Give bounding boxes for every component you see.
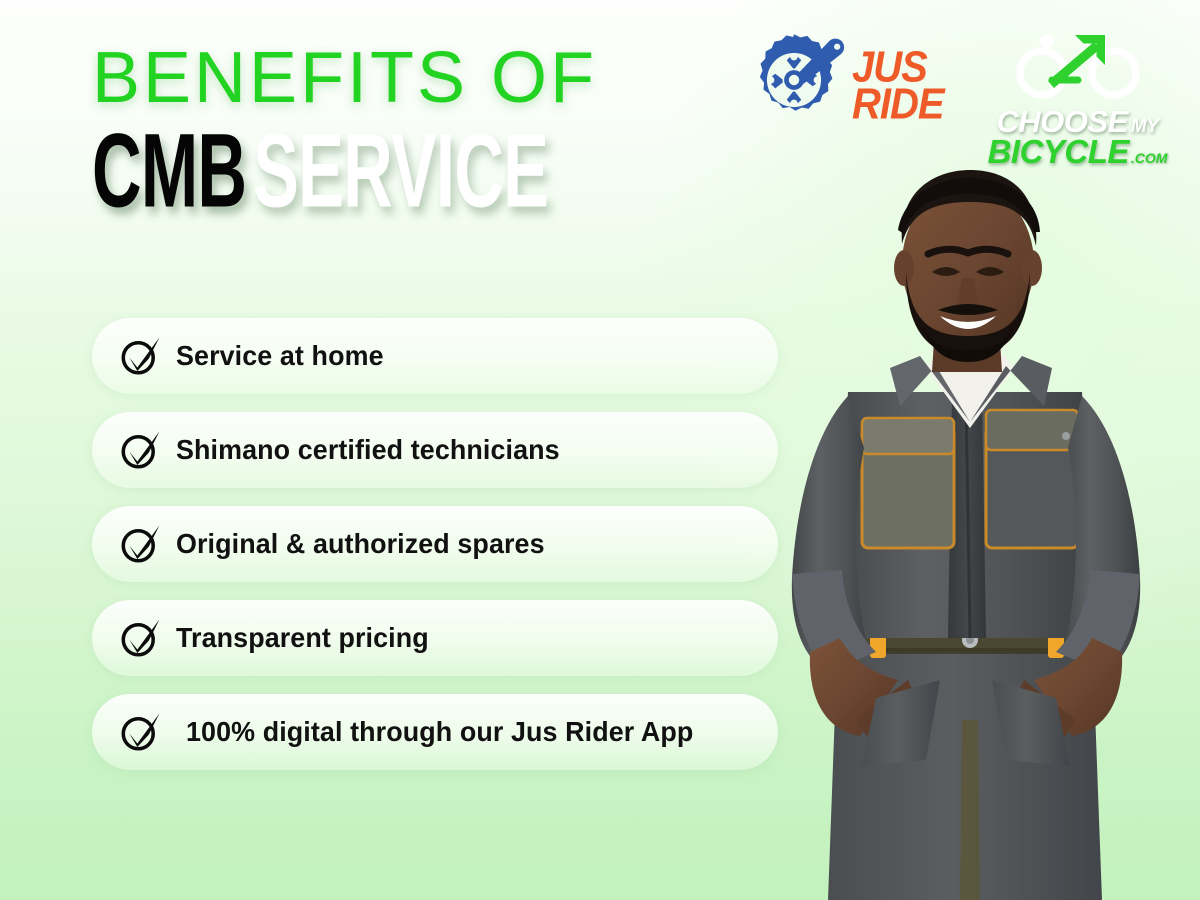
title-word-service: SERVICE bbox=[253, 119, 548, 224]
technician-photo bbox=[730, 160, 1200, 900]
cmb-wordmark-row-2: BICYCLE .COM bbox=[988, 136, 1168, 167]
benefit-label: Shimano certified technicians bbox=[176, 434, 560, 466]
check-circle-icon bbox=[118, 334, 162, 378]
check-circle-icon bbox=[118, 428, 162, 472]
benefit-label: Service at home bbox=[176, 340, 384, 372]
check-circle-icon bbox=[118, 616, 162, 660]
choosemybicycle-wordmark: CHOOSE MY BICYCLE .COM bbox=[988, 107, 1168, 168]
choosemybicycle-logo[interactable]: CHOOSE MY BICYCLE .COM bbox=[988, 28, 1168, 168]
benefits-list: Service at home Shimano certified techni… bbox=[92, 318, 778, 788]
benefit-pill[interactable]: Shimano certified technicians bbox=[92, 412, 778, 488]
benefit-pill[interactable]: Service at home bbox=[92, 318, 778, 394]
poster-canvas: BENEFITS OF CMBSERVICE bbox=[0, 0, 1200, 900]
title-line-benefits-of: BENEFITS OF bbox=[92, 42, 622, 114]
benefit-pill[interactable]: Original & authorized spares bbox=[92, 506, 778, 582]
benefit-label: Original & authorized spares bbox=[176, 528, 545, 560]
bicycle-arrow-icon bbox=[1012, 28, 1144, 105]
cmb-word-com: .COM bbox=[1131, 152, 1168, 165]
benefit-label: Transparent pricing bbox=[176, 622, 429, 654]
cmb-word-choose: CHOOSE bbox=[996, 107, 1127, 136]
benefit-pill[interactable]: 100% digital through our Jus Rider App bbox=[92, 694, 778, 770]
page-title: BENEFITS OF CMBSERVICE bbox=[92, 42, 622, 214]
cmb-wordmark-row-1: CHOOSE MY bbox=[988, 107, 1168, 136]
title-line-cmb-service: CMBSERVICE bbox=[92, 128, 622, 214]
jus-ride-word-bottom: RIDE bbox=[852, 84, 944, 124]
jus-ride-wordmark: JUS RIDE bbox=[852, 49, 944, 123]
benefit-label: 100% digital through our Jus Rider App bbox=[186, 716, 693, 748]
cmb-word-bicycle: BICYCLE bbox=[988, 136, 1129, 167]
title-word-cmb: CMB bbox=[92, 119, 246, 224]
benefit-pill[interactable]: Transparent pricing bbox=[92, 600, 778, 676]
check-circle-icon bbox=[118, 710, 162, 754]
check-circle-icon bbox=[118, 522, 162, 566]
jus-ride-logo[interactable]: JUS RIDE bbox=[742, 28, 944, 137]
chainring-crank-icon bbox=[742, 28, 846, 137]
cmb-word-my: MY bbox=[1131, 118, 1159, 136]
logo-group: JUS RIDE bbox=[742, 28, 1167, 168]
